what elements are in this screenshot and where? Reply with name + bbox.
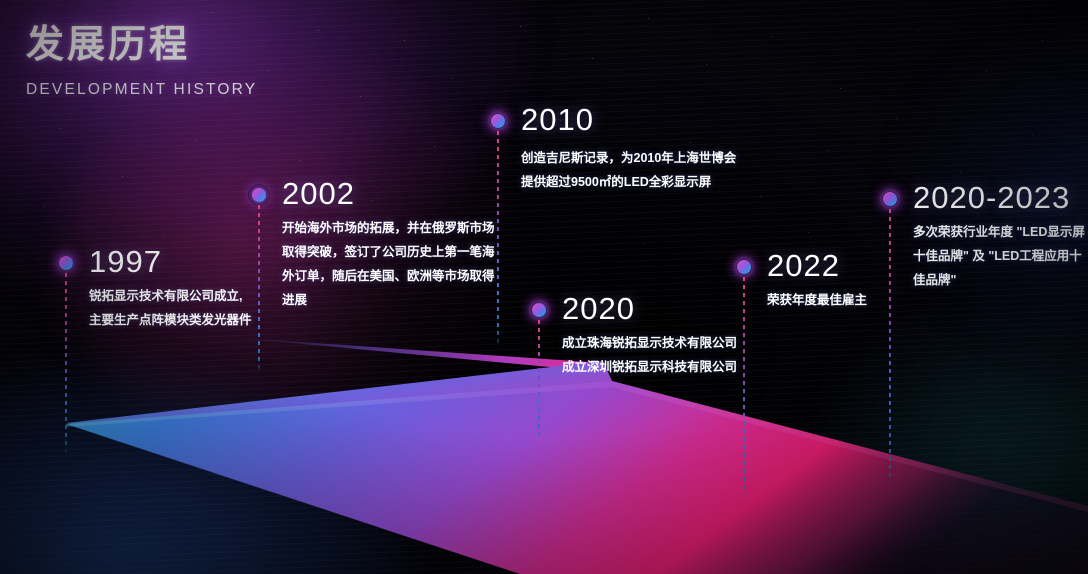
timeline-description-line: 荣获年度最佳雇主 [767,288,867,312]
timeline-description-line: 开始海外市场的拓展，并在俄罗斯市场 [282,216,495,240]
timeline-description: 创造吉尼斯记录，为2010年上海世博会提供超过9500㎡的LED全彩显示屏 [521,146,736,194]
timeline-description-line: 十佳品牌" 及 "LED工程应用十 [913,244,1085,268]
timeline-description-line: 进展 [282,288,495,312]
timeline-description-line: 提供超过9500㎡的LED全彩显示屏 [521,170,736,194]
timeline-year-label: 2020-2023 [913,182,1070,213]
slide-canvas: 发展历程 DEVELOPMENT HISTORY 1997锐拓显示技术有限公司成… [0,0,1088,574]
timeline-marker-icon [733,256,755,278]
page-header: 发展历程 DEVELOPMENT HISTORY [26,24,257,99]
timeline-description: 锐拓显示技术有限公司成立,主要生产点阵模块类发光器件 [89,284,252,332]
timeline-year-label: 2002 [282,178,355,209]
timeline-connector-line [889,209,891,485]
page-title-en: DEVELOPMENT HISTORY [26,81,257,99]
timeline-marker-icon [55,252,77,274]
timeline-connector-line [497,131,499,346]
timeline-connector-line [538,320,540,438]
timeline-description-line: 主要生产点阵模块类发光器件 [89,308,252,332]
timeline-description-line: 多次荣获行业年度 "LED显示屏 [913,220,1085,244]
timeline-connector-line [65,273,67,453]
timeline-connector-line [258,205,260,371]
timeline-description: 多次荣获行业年度 "LED显示屏十佳品牌" 及 "LED工程应用十佳品牌" [913,220,1085,292]
timeline-year-label: 2020 [562,293,635,324]
timeline-description-line: 外订单，随后在美国、欧洲等市场取得 [282,264,495,288]
timeline-description-line: 成立珠海锐拓显示技术有限公司 [562,331,737,355]
timeline-description: 成立珠海锐拓显示技术有限公司成立深圳锐拓显示科技有限公司 [562,331,737,379]
timeline-year-label: 1997 [89,246,162,277]
timeline-description-line: 佳品牌" [913,268,1085,292]
timeline-marker-icon [528,299,550,321]
timeline-connector-line [743,277,745,499]
timeline-description: 荣获年度最佳雇主 [767,288,867,312]
timeline-marker-icon [248,184,270,206]
timeline-year-label: 2022 [767,250,840,281]
timeline-description-line: 成立深圳锐拓显示科技有限公司 [562,355,737,379]
timeline-description-line: 创造吉尼斯记录，为2010年上海世博会 [521,146,736,170]
timeline-marker-icon [487,110,509,132]
timeline-description: 开始海外市场的拓展，并在俄罗斯市场取得突破，签订了公司历史上第一笔海外订单，随后… [282,216,495,312]
page-title-cn: 发展历程 [26,24,257,68]
timeline-year-label: 2010 [521,104,594,135]
timeline-description-line: 取得突破，签订了公司历史上第一笔海 [282,240,495,264]
timeline-marker-icon [879,188,901,210]
timeline-description-line: 锐拓显示技术有限公司成立, [89,284,252,308]
